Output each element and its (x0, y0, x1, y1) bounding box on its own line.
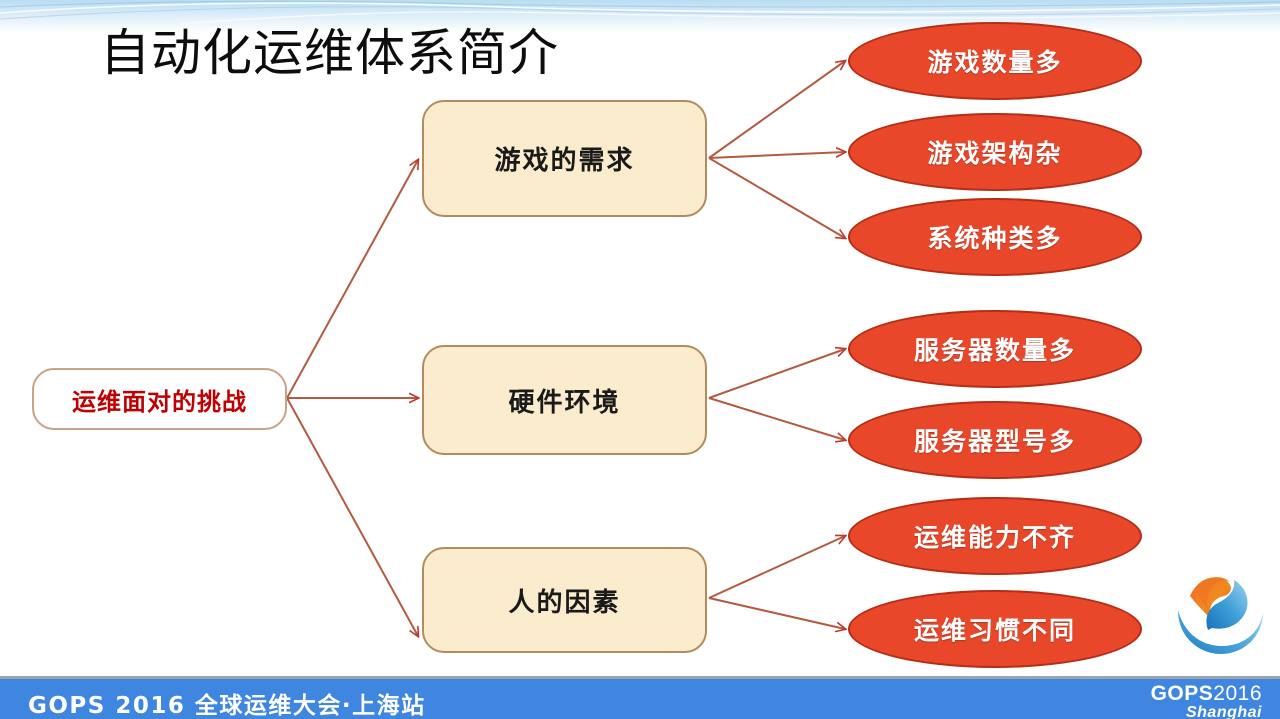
node-leaf-game-architecture[interactable]: 游戏架构杂 (848, 113, 1142, 191)
node-branch-2[interactable]: 硬件环境 (422, 345, 707, 455)
footer-brand: GOPS2016 Shanghai (1151, 683, 1262, 719)
gops-logo-icon (1168, 556, 1272, 660)
connector-root-to-branch-1 (287, 160, 418, 398)
node-branch-3[interactable]: 人的因素 (422, 547, 707, 653)
footer-left-text: GOPS 2016 全球运维大会·上海站 (28, 686, 426, 719)
node-leaf-game-architecture-label: 游戏架构杂 (927, 134, 1062, 170)
connector-branch-2-leaf-1 (709, 349, 845, 398)
node-branch-1[interactable]: 游戏的需求 (422, 100, 707, 217)
node-leaf-server-models-label: 服务器型号多 (914, 422, 1076, 458)
node-branch-3-label: 人的因素 (508, 582, 620, 619)
connector-branch-3-leaf-2 (709, 598, 845, 629)
node-branch-2-label: 硬件环境 (508, 382, 620, 419)
node-leaf-ops-habits-label: 运维习惯不同 (914, 611, 1076, 647)
node-leaf-game-count[interactable]: 游戏数量多 (848, 22, 1142, 100)
node-branch-1-label: 游戏的需求 (494, 140, 634, 177)
node-leaf-system-types[interactable]: 系统种类多 (848, 198, 1142, 276)
footer-brand-year: 2016 (1213, 682, 1262, 705)
page-title: 自动化运维体系简介 (100, 27, 559, 80)
footer-brand-main: GOPS2016 (1151, 683, 1262, 704)
slide-canvas: 自动化运维体系简介 运维面对的挑战 游戏的需求 (0, 0, 1280, 719)
connector-branch-2-leaf-2 (709, 398, 845, 440)
footer-brand-name: GOPS (1151, 682, 1214, 705)
connector-branch-1-leaf-3 (709, 158, 845, 238)
node-leaf-server-models[interactable]: 服务器型号多 (848, 401, 1142, 479)
node-leaf-ops-habits[interactable]: 运维习惯不同 (848, 590, 1142, 668)
node-leaf-ops-skill[interactable]: 运维能力不齐 (848, 497, 1142, 575)
connector-branch-1-leaf-1 (709, 61, 845, 158)
footer-brand-city: Shanghai (1151, 705, 1262, 719)
node-root[interactable]: 运维面对的挑战 (32, 368, 287, 430)
node-leaf-ops-skill-label: 运维能力不齐 (914, 518, 1076, 554)
node-leaf-server-count[interactable]: 服务器数量多 (848, 310, 1142, 388)
node-leaf-server-count-label: 服务器数量多 (914, 331, 1076, 367)
node-leaf-system-types-label: 系统种类多 (927, 219, 1062, 255)
connector-branch-3-leaf-1 (709, 536, 845, 598)
connector-branch-1-leaf-2 (709, 152, 845, 158)
node-root-label: 运维面对的挑战 (72, 382, 247, 417)
connector-root-to-branch-3 (287, 398, 418, 636)
node-leaf-game-count-label: 游戏数量多 (927, 43, 1062, 79)
